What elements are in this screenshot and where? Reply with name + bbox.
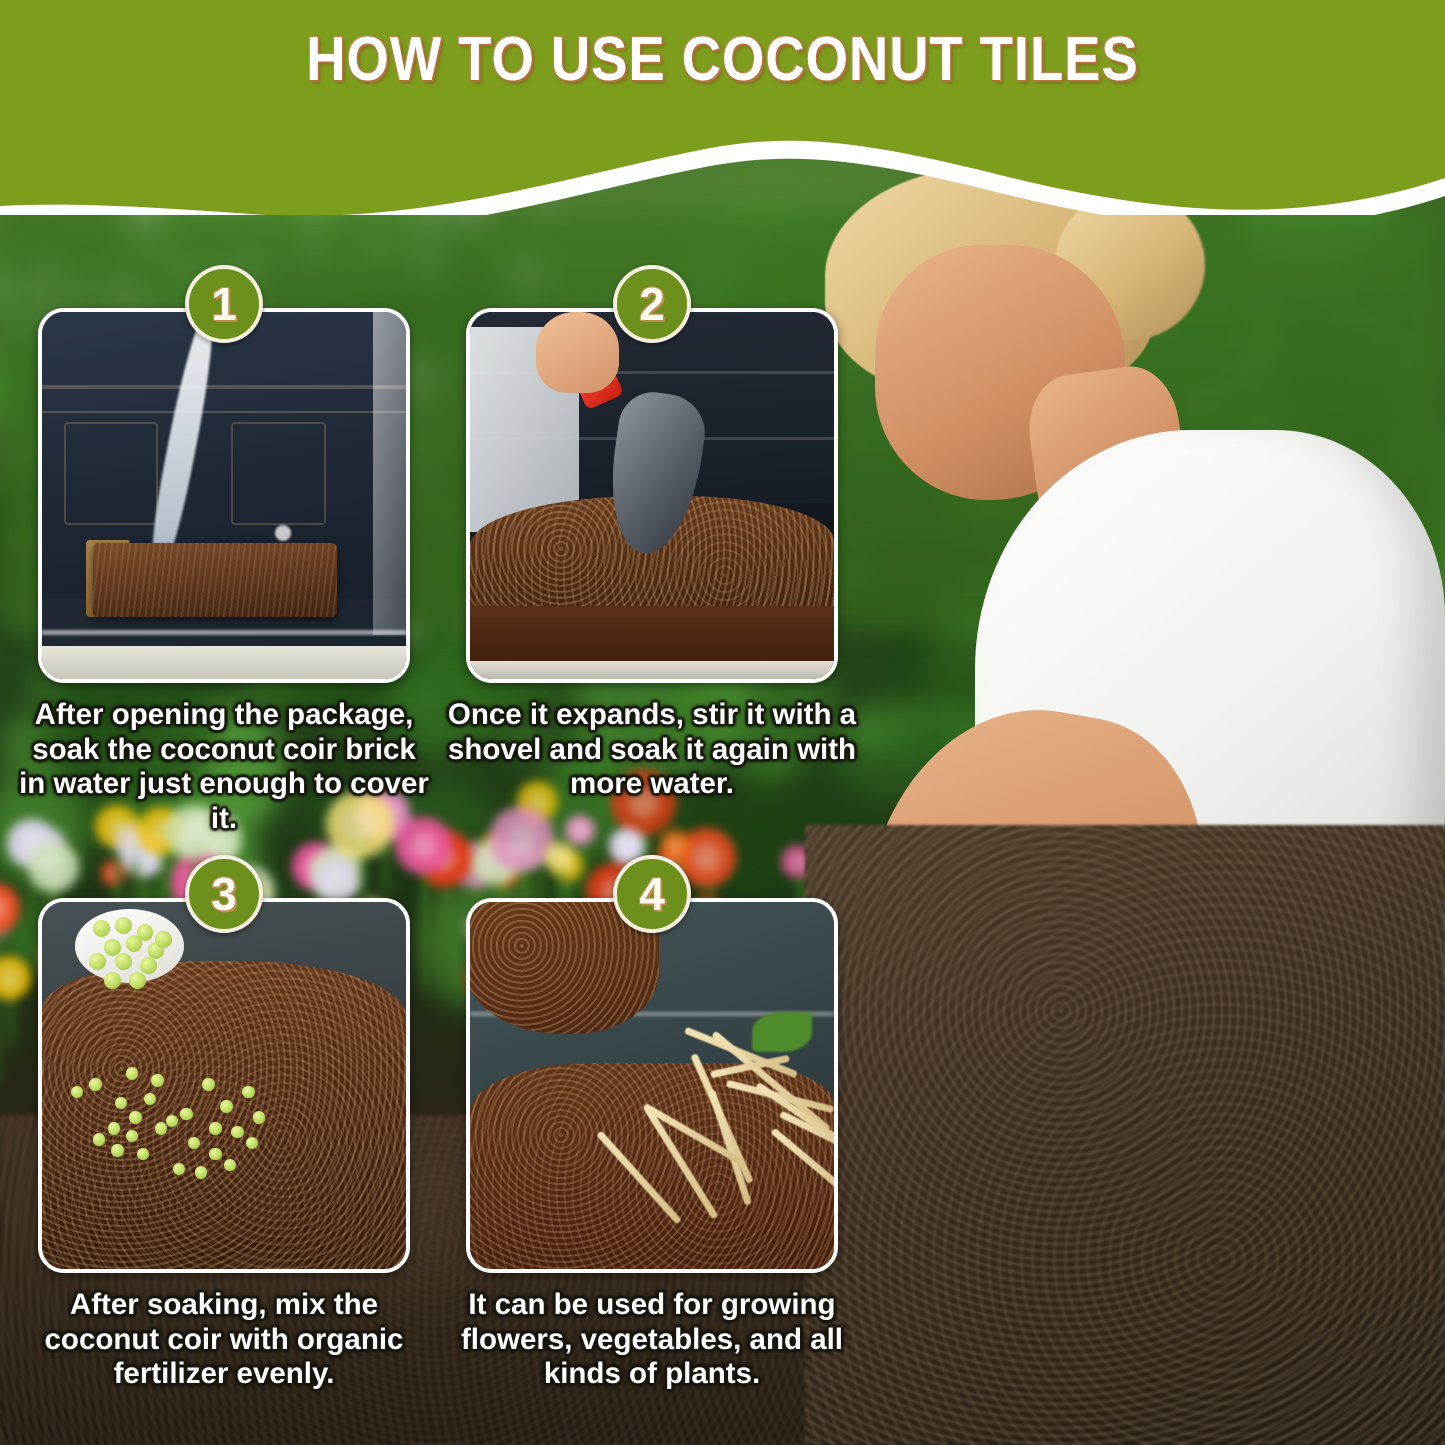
fertilizer-pellet	[126, 1130, 138, 1142]
step-caption-4: It can be used for growing flowers, vege…	[446, 1288, 858, 1392]
step-number-4: 4	[639, 867, 665, 921]
fertilizer-spoon-icon	[42, 902, 406, 1269]
water-pour-icon	[42, 312, 406, 679]
step-caption-2: Once it expands, stir it with a shovel a…	[446, 698, 858, 802]
roots-icon	[470, 902, 834, 1269]
soil-right	[805, 825, 1445, 1445]
step-number-3: 3	[211, 867, 237, 921]
step-badge-3: 3	[185, 855, 263, 933]
fertilizer-pellet	[202, 1078, 214, 1090]
fertilizer-pellet	[104, 972, 121, 989]
fertilizer-pellet	[242, 1086, 254, 1098]
infographic-page: HOW TO USE COCONUT TILES	[0, 0, 1445, 1445]
fertilizer-pellet	[220, 1100, 232, 1112]
fertilizer-pellet	[104, 939, 121, 956]
fertilizer-pellet	[115, 917, 132, 934]
fertilizer-pellet	[155, 1122, 167, 1134]
fertilizer-pellet	[129, 972, 146, 989]
fertilizer-pellet	[108, 1122, 120, 1134]
steps-grid: 1 After opening the package, soak the co…	[0, 0, 880, 1445]
fertilizer-pellet	[140, 957, 157, 974]
trowel-icon	[470, 312, 834, 679]
fertilizer-pellet	[209, 1122, 221, 1134]
step-caption-1: After opening the package, soak the coco…	[18, 698, 430, 836]
step-3-photo[interactable]	[38, 898, 410, 1273]
fertilizer-pellet	[93, 1133, 105, 1145]
fertilizer-pellet	[195, 1166, 207, 1178]
fertilizer-pellet	[209, 1148, 221, 1160]
fertilizer-pellet	[155, 931, 172, 948]
fertilizer-pellet	[111, 1144, 123, 1156]
step-badge-2: 2	[613, 265, 691, 343]
step-badge-1: 1	[185, 265, 263, 343]
step-badge-4: 4	[613, 855, 691, 933]
fertilizer-pellet	[129, 1111, 141, 1123]
step-2-photo[interactable]	[466, 308, 838, 683]
fertilizer-pellet	[115, 1097, 127, 1109]
fertilizer-pellet	[180, 1108, 192, 1120]
fertilizer-pellet	[93, 920, 110, 937]
fertilizer-pellet	[231, 1126, 243, 1138]
step-4-photo[interactable]	[466, 898, 838, 1273]
fertilizer-pellet	[126, 1067, 138, 1079]
step-caption-3: After soaking, mix the coconut coir with…	[18, 1288, 430, 1392]
fertilizer-pellet	[89, 1078, 101, 1090]
step-1-photo[interactable]	[38, 308, 410, 683]
fertilizer-pellet	[115, 953, 132, 970]
step-number-1: 1	[211, 277, 237, 331]
step-number-2: 2	[639, 277, 665, 331]
fertilizer-pellet	[151, 1074, 163, 1086]
fertilizer-pellet	[253, 1111, 265, 1123]
